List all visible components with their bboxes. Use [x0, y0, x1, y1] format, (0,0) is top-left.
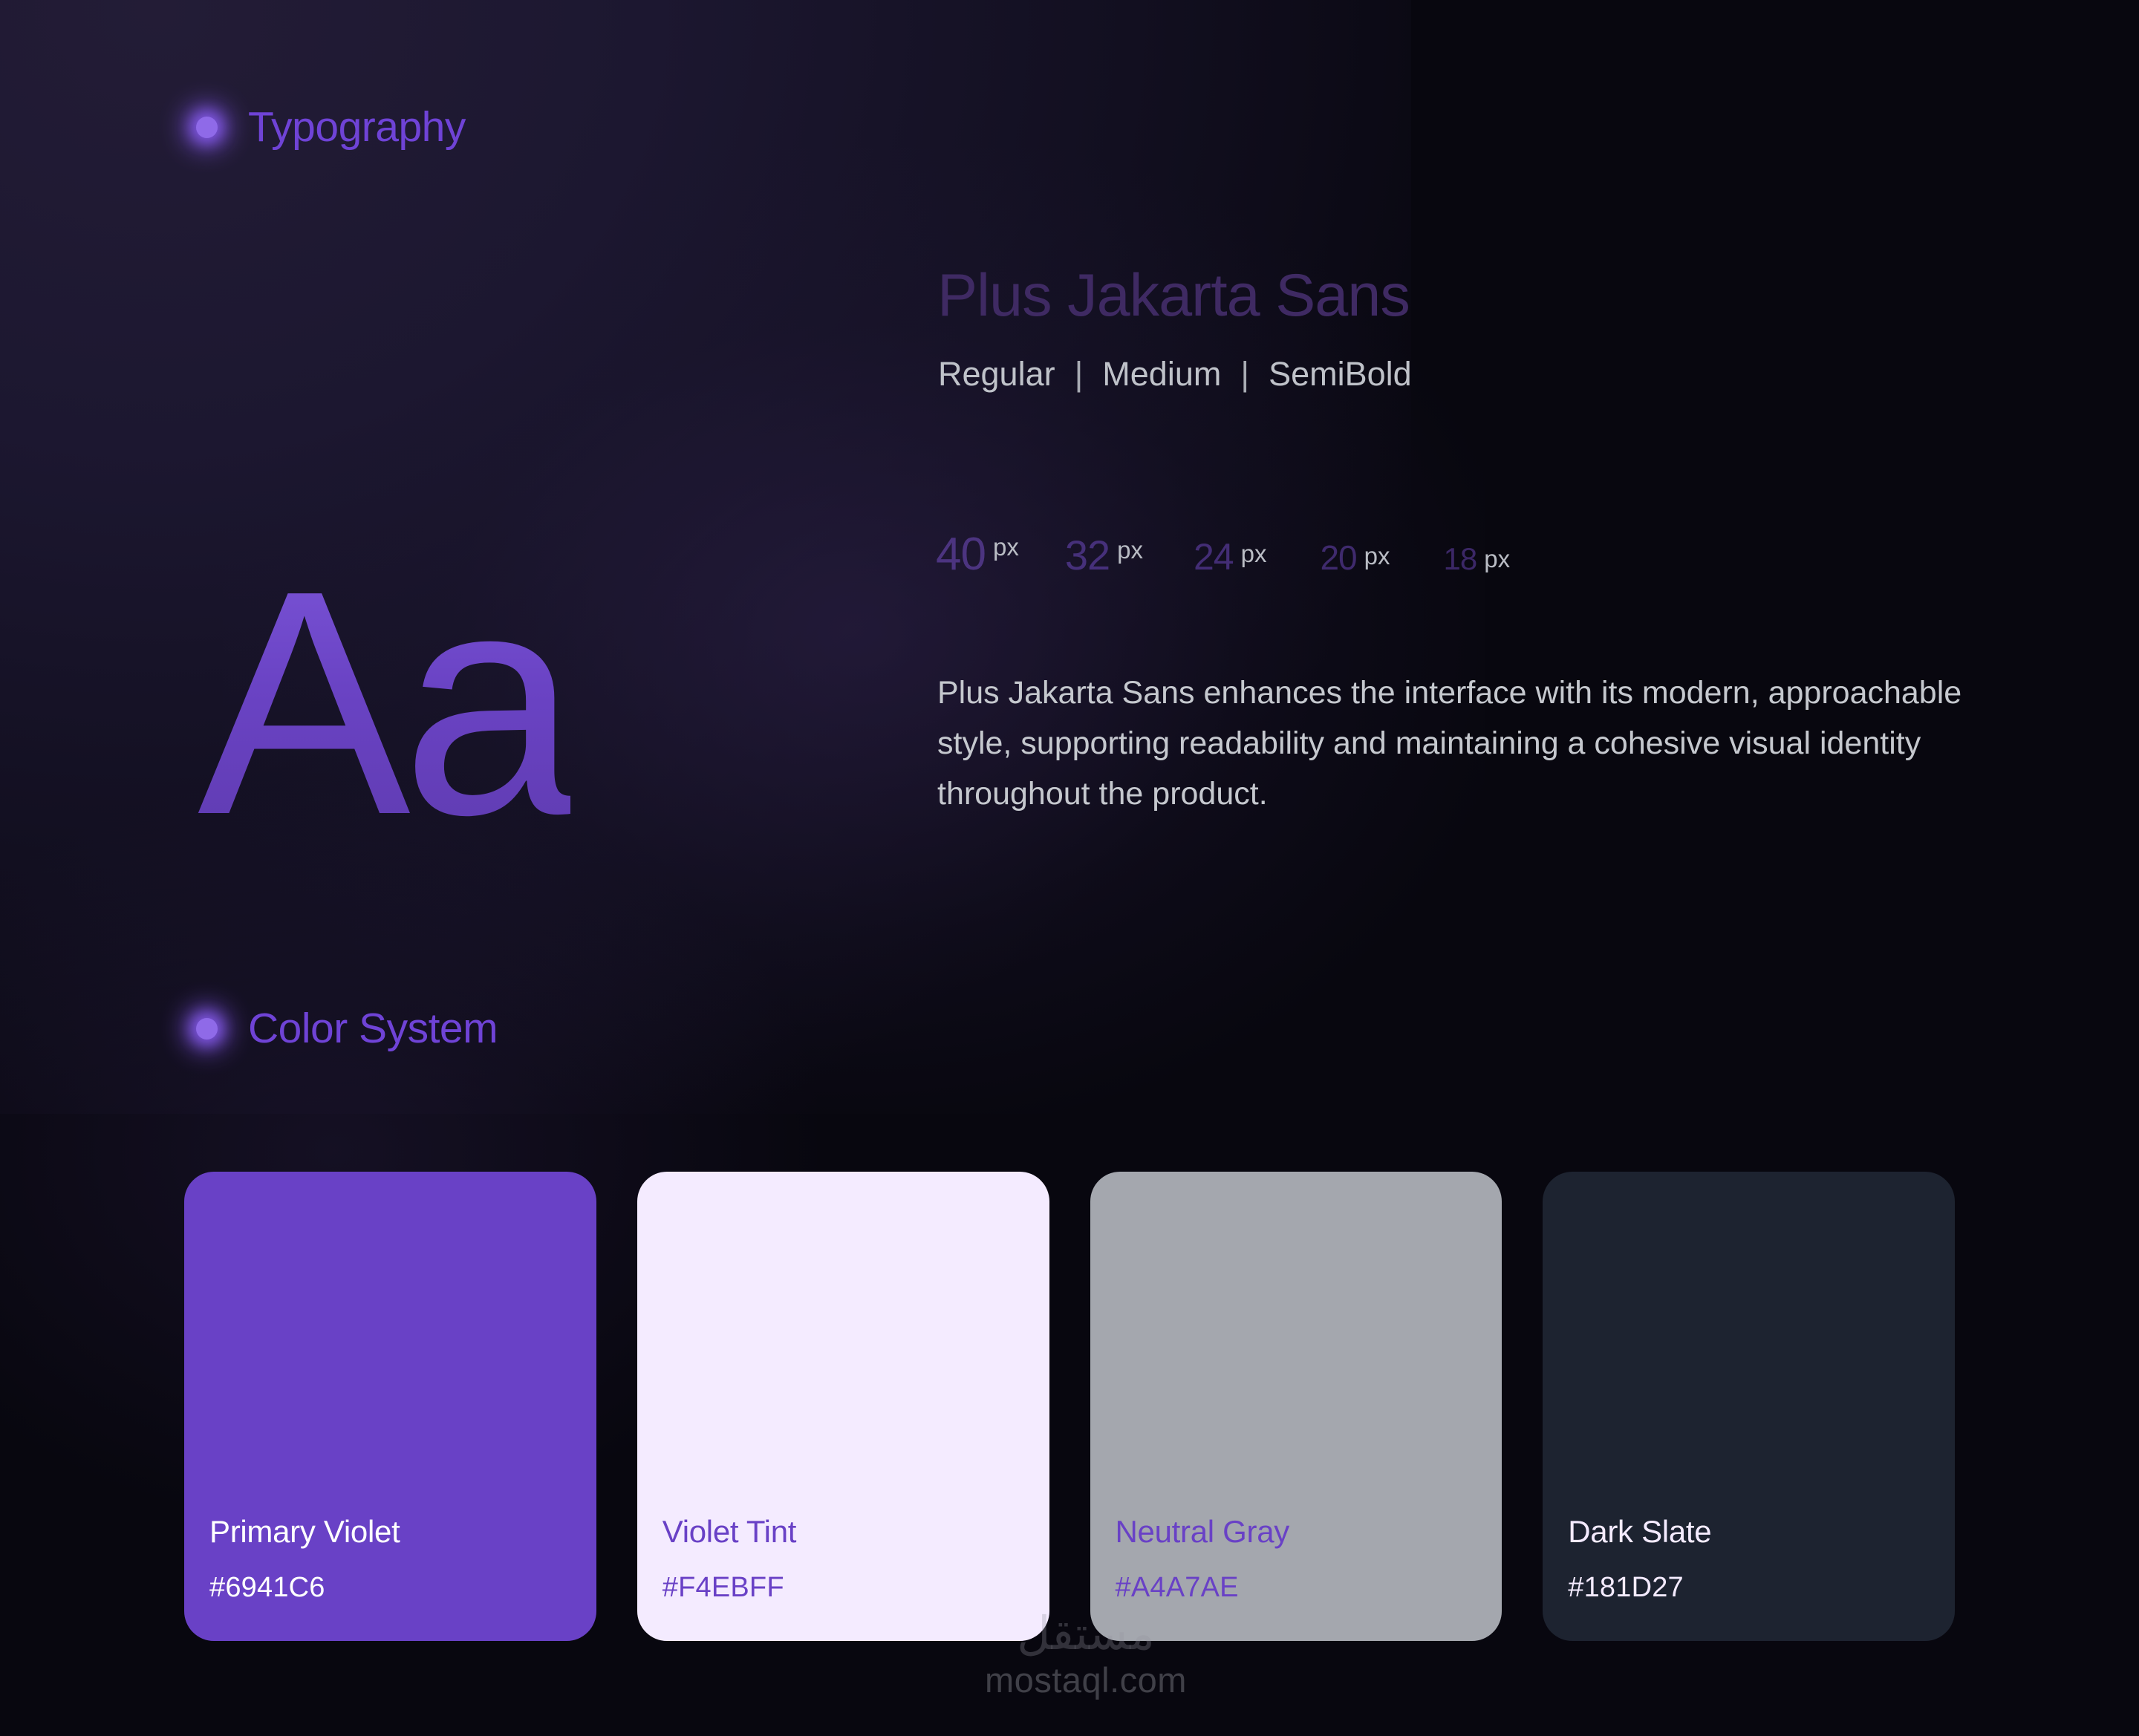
- swatch-hex-violet-tint: #F4EBFF: [662, 1572, 1049, 1604]
- section-title-color-system: Color System: [248, 1004, 498, 1053]
- color-swatch-dark-slate[interactable]: Dark Slate #181D27: [1543, 1172, 1955, 1641]
- swatch-name-neutral-gray: Neutral Gray: [1116, 1514, 1502, 1550]
- font-weight-medium: Medium: [1102, 355, 1221, 394]
- type-scale-unit-40: px: [993, 532, 1019, 559]
- swatch-name-dark-slate: Dark Slate: [1568, 1514, 1955, 1550]
- swatch-hex-primary-violet: #6941C6: [209, 1572, 596, 1604]
- color-swatch-primary-violet[interactable]: Primary Violet #6941C6: [184, 1172, 596, 1641]
- type-scale-item-24: 24 px: [1194, 538, 1266, 575]
- type-scale-value-32: 32: [1065, 535, 1110, 576]
- type-scale-unit-24: px: [1241, 538, 1267, 566]
- type-scale-unit-32: px: [1117, 535, 1143, 562]
- font-family-name: Plus Jakarta Sans: [937, 261, 1410, 330]
- type-scale-value-24: 24: [1194, 538, 1234, 575]
- type-scale-list: 40 px 32 px 24 px 20 px 18 px: [936, 532, 1510, 578]
- font-weight-list: Regular | Medium | SemiBold: [938, 355, 1412, 394]
- font-specimen-aa: Aa: [198, 544, 570, 863]
- type-scale-unit-20: px: [1364, 541, 1390, 568]
- font-weight-regular: Regular: [938, 355, 1055, 394]
- color-swatch-violet-tint[interactable]: Violet Tint #F4EBFF: [637, 1172, 1049, 1641]
- swatch-hex-dark-slate: #181D27: [1568, 1572, 1955, 1604]
- color-swatch-neutral-gray[interactable]: Neutral Gray #A4A7AE: [1090, 1172, 1502, 1641]
- weight-separator-1: |: [1075, 355, 1084, 394]
- weight-separator-2: |: [1240, 355, 1249, 394]
- type-scale-item-40: 40 px: [936, 532, 1019, 578]
- color-swatch-row: Primary Violet #6941C6 Violet Tint #F4EB…: [184, 1172, 1955, 1641]
- swatch-name-violet-tint: Violet Tint: [662, 1514, 1049, 1550]
- type-scale-value-40: 40: [936, 532, 986, 578]
- swatch-name-primary-violet: Primary Violet: [209, 1514, 596, 1550]
- glow-dot-core: [196, 1018, 218, 1040]
- design-system-board: Typography Aa Plus Jakarta Sans Regular …: [0, 0, 2139, 1736]
- type-scale-item-18: 18 px: [1444, 544, 1511, 575]
- type-scale-unit-18: px: [1484, 544, 1510, 571]
- type-scale-value-18: 18: [1444, 544, 1477, 575]
- type-scale-item-32: 32 px: [1065, 535, 1143, 576]
- section-heading-color-system: Color System: [184, 1004, 498, 1053]
- watermark-domain: mostaql.com: [985, 1660, 1187, 1700]
- section-heading-typography: Typography: [184, 102, 466, 151]
- font-weight-semibold: SemiBold: [1269, 355, 1412, 394]
- type-scale-value-20: 20: [1320, 541, 1356, 575]
- section-title-typography: Typography: [248, 102, 466, 151]
- type-scale-item-20: 20 px: [1320, 541, 1390, 575]
- glow-dot-icon: [184, 1006, 229, 1051]
- swatch-hex-neutral-gray: #A4A7AE: [1116, 1572, 1502, 1604]
- typography-description: Plus Jakarta Sans enhances the interface…: [937, 668, 1977, 820]
- glow-dot-icon: [184, 105, 229, 149]
- glow-dot-core: [196, 117, 218, 138]
